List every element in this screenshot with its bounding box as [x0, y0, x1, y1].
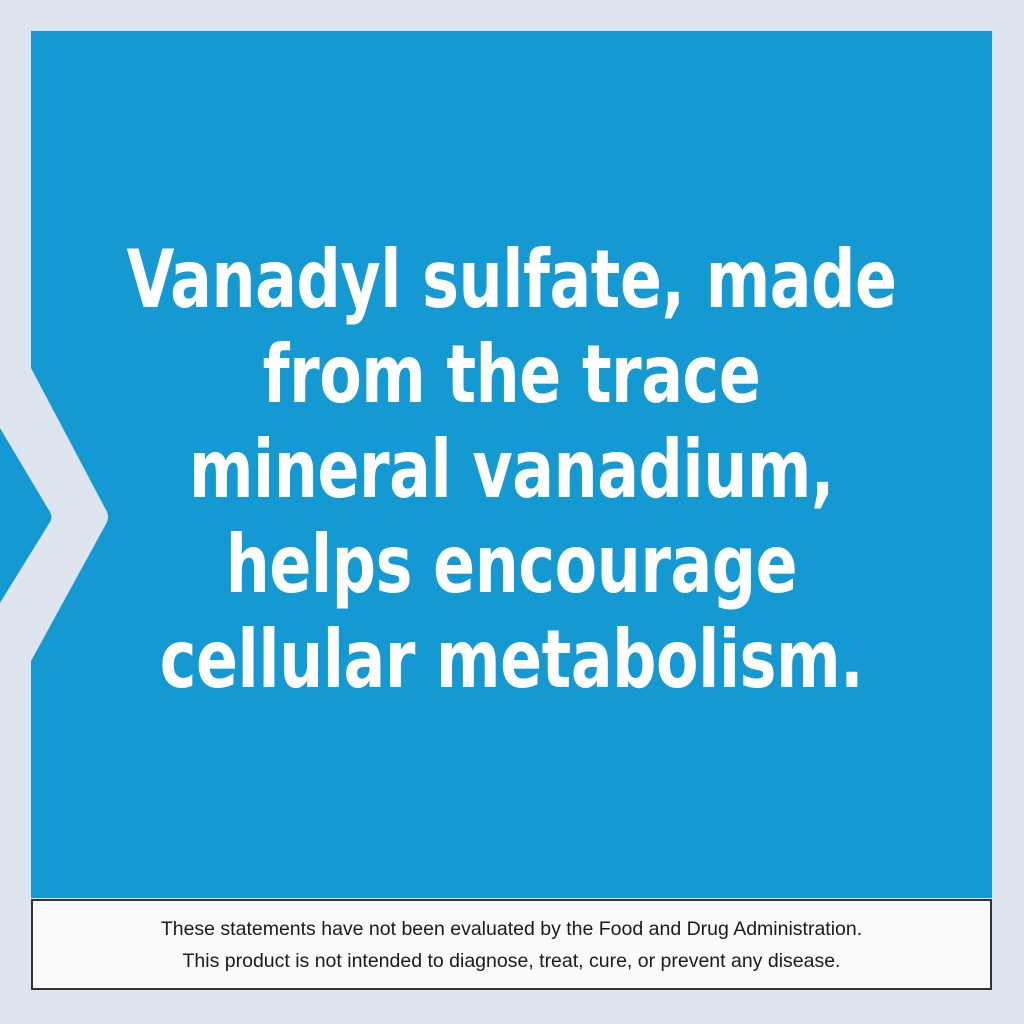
- headline-line-3: mineral vanadium,: [98, 422, 924, 517]
- disclaimer-line-2: This product is not intended to diagnose…: [183, 945, 841, 977]
- fda-disclaimer-box: These statements have not been evaluated…: [31, 899, 992, 990]
- headline-line-4: helps encourage: [98, 517, 924, 612]
- infographic-canvas: Vanadyl sulfate, made from the trace min…: [0, 0, 1024, 1024]
- page-title: Vanadyl sulfate, made from the trace min…: [31, 232, 992, 707]
- headline-line-1: Vanadyl sulfate, made: [98, 232, 924, 327]
- disclaimer-line-1: These statements have not been evaluated…: [161, 913, 862, 945]
- headline-line-2: from the trace: [98, 327, 924, 422]
- headline-line-5: cellular metabolism.: [98, 612, 924, 707]
